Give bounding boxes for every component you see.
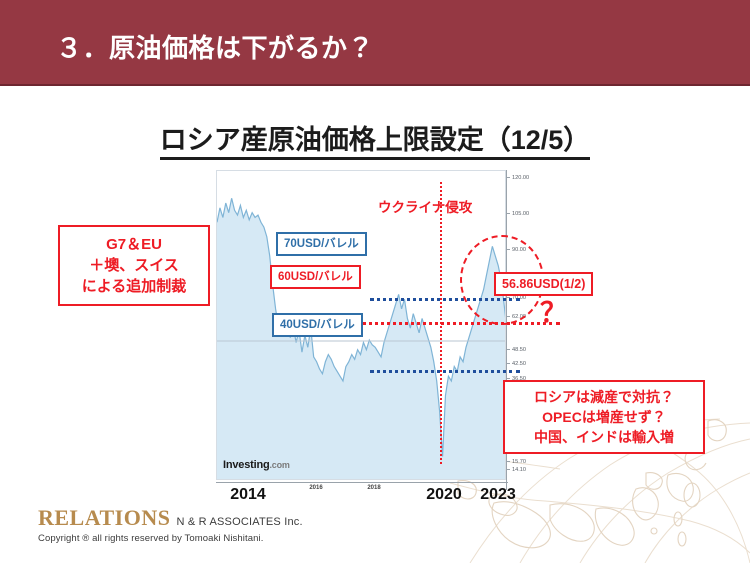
invasion-annotation-label: ウクライナ侵攻 (378, 196, 472, 216)
y-axis-tick: 48.50 (506, 345, 526, 355)
price-line-40 (370, 370, 520, 373)
outlook-callout: ロシアは減産で対抗？ OPECは増産せず？ 中国、インドは輸入増 (503, 380, 705, 454)
invasion-vertical-line (440, 182, 442, 464)
x-axis-line (216, 482, 508, 483)
investing-com-logo: Investing.com (223, 459, 290, 471)
y-axis-tick: 120.00 (506, 173, 529, 183)
footer-copyright: Copyright ® all rights reserved by Tomoa… (38, 533, 303, 544)
x-axis-tick-2023: 2023 (480, 486, 516, 504)
relations-logo: RELATIONS (38, 505, 170, 530)
footer-company-name: N & R ASSOCIATES Inc. (176, 516, 302, 528)
x-axis-tick-2014: 2014 (230, 486, 266, 504)
sanctions-line-2: ＋墺、スイス (64, 255, 204, 276)
y-axis-tick: 14.10 (506, 465, 526, 475)
header-banner: ３．原油価格は下がるか？ (0, 0, 750, 86)
sanctions-line-3: による追加制裁 (64, 276, 204, 297)
y-tick-mark (506, 177, 510, 178)
page-title: ３．原油価格は下がるか？ (56, 28, 374, 65)
slide-heading-text: ロシア産原油価格上限設定（12/5） (160, 125, 591, 160)
sanctions-callout: G7＆EU ＋墺、スイス による追加制裁 (58, 225, 210, 306)
footer-brand-row: RELATIONSN & R ASSOCIATES Inc. (38, 505, 303, 531)
y-tick-mark (506, 349, 510, 350)
price-line-60 (362, 322, 560, 325)
x-axis-tick-2016: 2016 (309, 485, 322, 491)
sanctions-line-1: G7＆EU (64, 234, 204, 255)
y-tick-mark (506, 469, 510, 470)
y-tick-mark (506, 213, 510, 214)
y-tick-label: 105.00 (512, 211, 529, 217)
x-axis-tick-2020: 2020 (426, 486, 462, 504)
current-price-callout: 56.86USD(1/2) (494, 272, 593, 296)
outlook-line-3: 中国、インドは輸入増 (509, 427, 699, 447)
x-axis-tick-2018: 2018 (367, 485, 380, 491)
y-axis-tick: 42.50 (506, 359, 526, 369)
outlook-line-2: OPECは増産せず？ (509, 407, 699, 427)
price-label-60: 60USD/バレル (270, 265, 361, 289)
question-mark-annotation: ？ (540, 300, 567, 327)
y-tick-mark (506, 461, 510, 462)
investing-suffix: .com (270, 460, 290, 470)
y-tick-label: 48.50 (512, 347, 526, 353)
y-axis-tick: 105.00 (506, 209, 529, 219)
y-tick-label: 42.50 (512, 361, 526, 367)
footer: RELATIONSN & R ASSOCIATES Inc. Copyright… (38, 505, 303, 544)
y-tick-label: 14.10 (512, 467, 526, 473)
price-label-40: 40USD/バレル (272, 313, 363, 337)
y-tick-mark (506, 378, 510, 379)
y-tick-label: 120.00 (512, 175, 529, 181)
outlook-line-1: ロシアは減産で対抗？ (509, 387, 699, 407)
investing-brand: Investing (223, 459, 270, 471)
slide-heading: ロシア産原油価格上限設定（12/5） (0, 118, 750, 157)
price-label-70: 70USD/バレル (276, 232, 367, 256)
y-tick-mark (506, 363, 510, 364)
